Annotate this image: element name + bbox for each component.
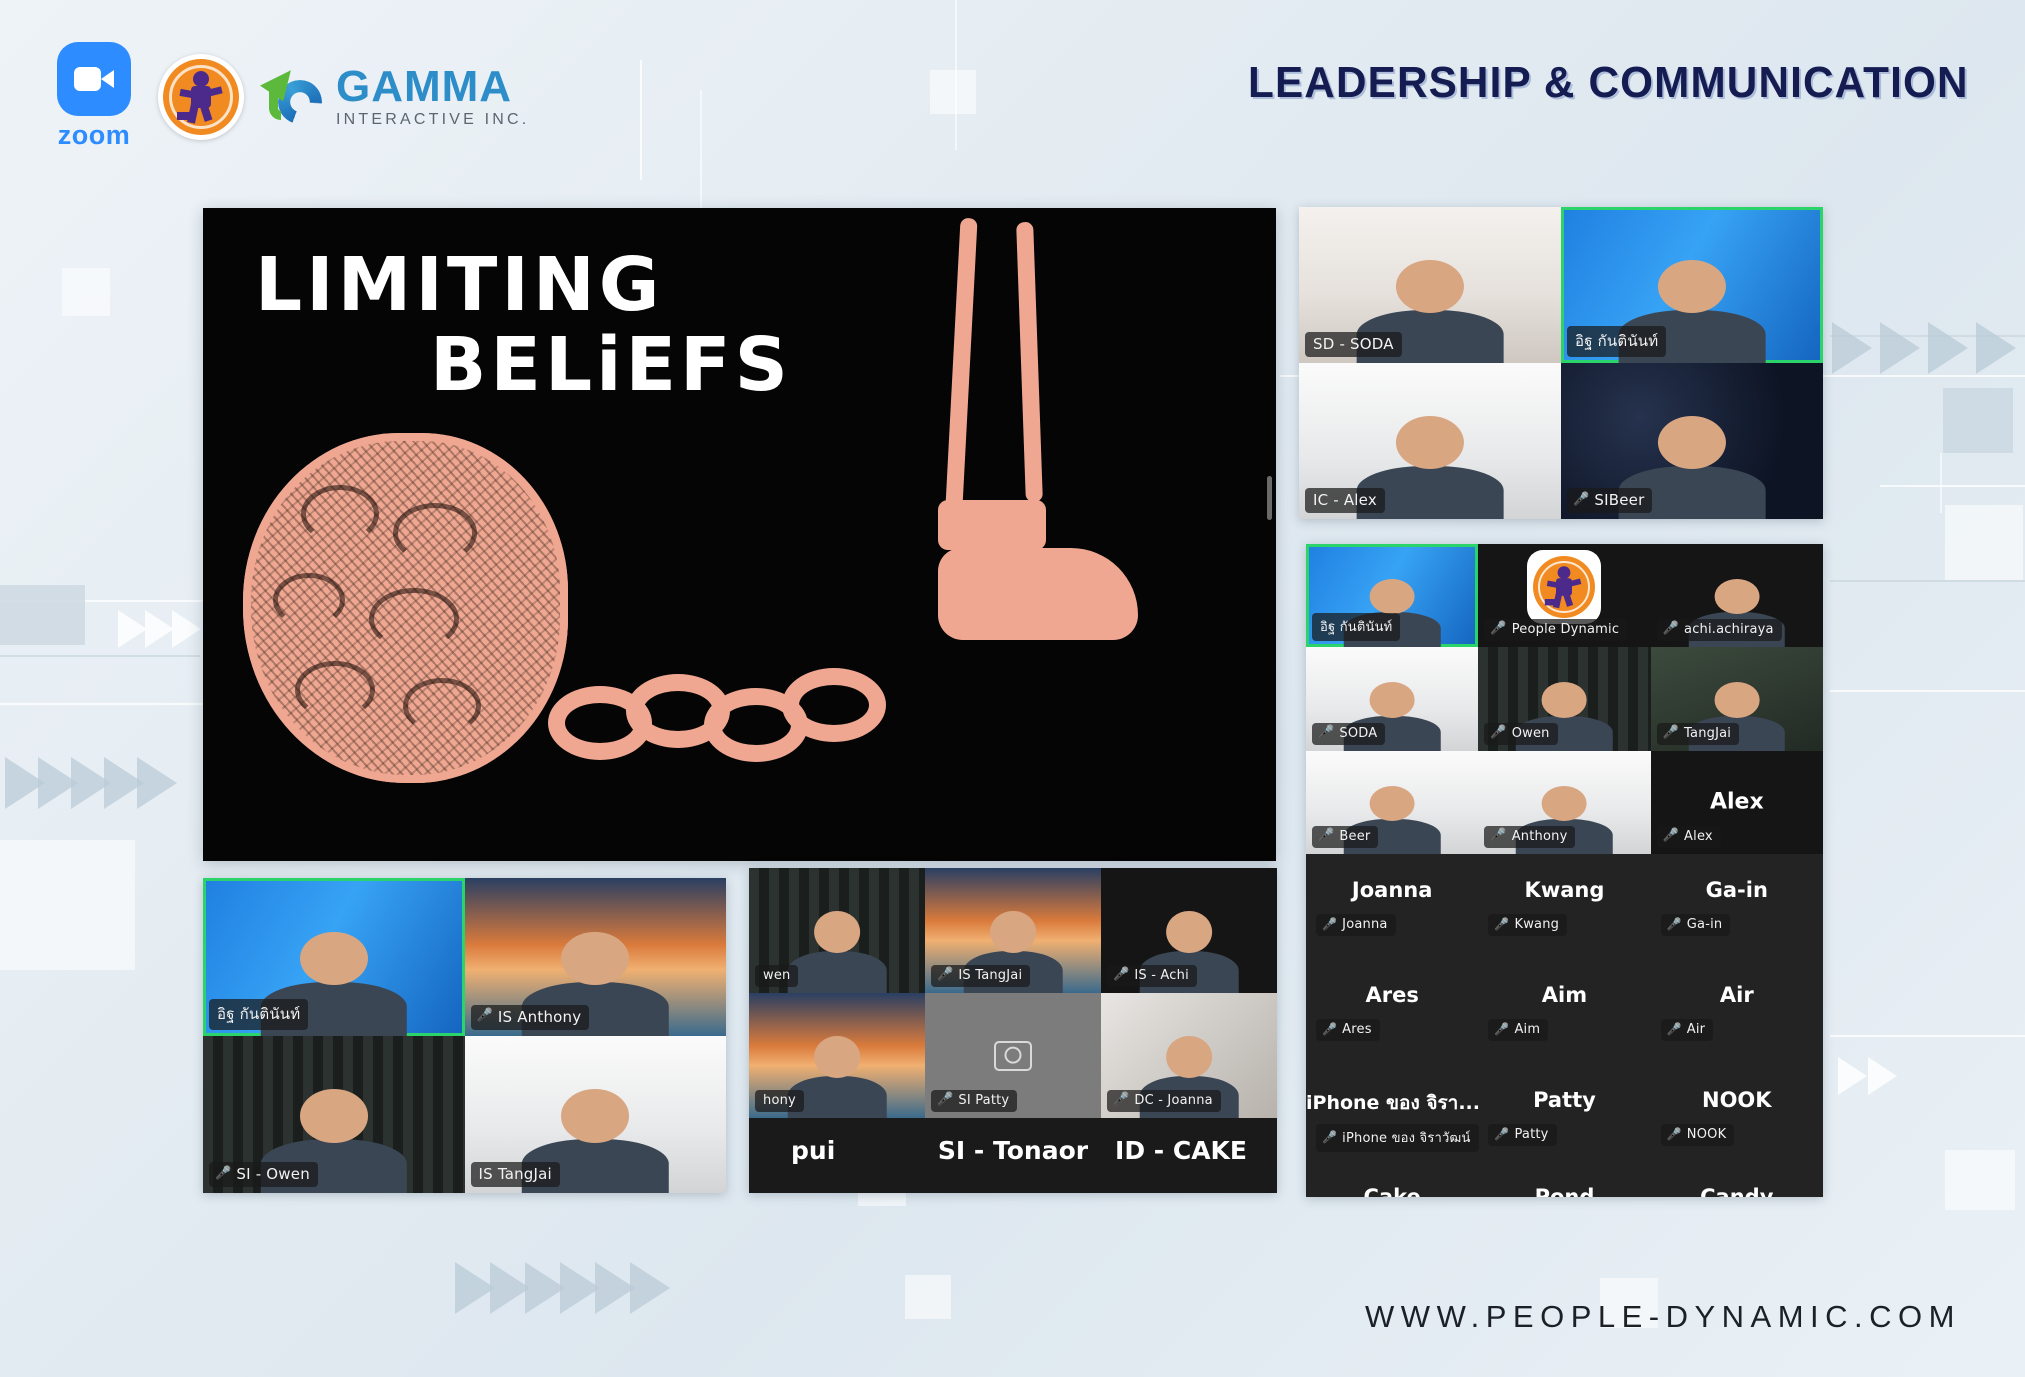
participant-name-label: SODA: [1339, 726, 1377, 741]
video-tile[interactable]: 🎤SIBeer: [1561, 363, 1823, 519]
video-tile[interactable]: อิฐ กันตินันท์: [1561, 207, 1823, 363]
participant-name-tag: 🎤Aim: [1488, 1019, 1548, 1041]
video-tile[interactable]: 🎤SODA: [1306, 647, 1478, 750]
shared-screen-slide[interactable]: LIMITING BELiEFS: [203, 208, 1276, 861]
participant-name-tag: 🎤Joanna: [1316, 914, 1396, 936]
page-title: LEADERSHIP & COMMUNICATION: [1248, 58, 1969, 108]
participant-name-label: SI - Owen: [236, 1165, 310, 1183]
microphone-muted-icon: 🎤: [477, 1009, 493, 1022]
video-tile[interactable]: IS TangJai: [465, 1036, 727, 1194]
participant-name-label: Kwang: [1514, 917, 1559, 932]
chain-icon: [548, 674, 908, 766]
participant-name-cell[interactable]: Aim🎤Aim: [1478, 977, 1650, 1082]
participant-name-label: IS Anthony: [498, 1008, 581, 1026]
participant-name-tag: 🎤IS Anthony: [471, 1005, 590, 1030]
ankle-cuff-shape: [938, 500, 1046, 550]
people-dynamic-logo-icon: [1527, 550, 1601, 624]
participant-name-label: People Dynamic: [1512, 622, 1619, 637]
participant-display-name: Kwang: [1478, 878, 1650, 902]
microphone-muted-icon: 🎤: [1490, 622, 1506, 635]
microphone-muted-icon: 🎤: [1667, 918, 1682, 930]
participant-display-name: Air: [1651, 983, 1823, 1007]
participant-name-row: SI - Tonaor: [938, 1136, 1088, 1165]
video-tile[interactable]: IC - Alex: [1299, 363, 1561, 519]
participant-display-name: iPhone ของ จิรา...: [1306, 1088, 1478, 1118]
microphone-muted-icon: 🎤: [1318, 726, 1334, 739]
participant-name-label: iPhone ของ จิราวัฒน์: [1342, 1127, 1470, 1148]
participant-name-tag: 🎤DC - Joanna: [1107, 1090, 1221, 1112]
microphone-muted-icon: 🎤: [1490, 726, 1506, 739]
microphone-muted-icon: 🎤: [1667, 1023, 1682, 1035]
participant-name-label: TangJai: [1684, 726, 1731, 741]
zoom-video-camera-icon: [57, 42, 131, 116]
participant-name-label: SD - SODA: [1313, 335, 1394, 353]
participant-name-label: NOOK: [1687, 1127, 1727, 1142]
video-tile[interactable]: 🎤DC - Joanna: [1101, 993, 1277, 1118]
video-tile[interactable]: 🎤IS TangJai: [925, 868, 1101, 993]
microphone-muted-icon: 🎤: [1318, 829, 1334, 842]
video-tile[interactable]: 🎤People Dynamic: [1478, 544, 1650, 647]
foot-shape: [938, 548, 1138, 640]
participant-name-row: pui: [791, 1136, 835, 1165]
participant-name-tag: อิฐ กันตินันท์: [1312, 613, 1400, 641]
participant-name-tag: IC - Alex: [1305, 488, 1385, 513]
video-tile[interactable]: 🎤Anthony: [1478, 751, 1650, 854]
participant-name-tag: hony: [755, 1090, 804, 1112]
participant-display-name-clipped: Cake: [1306, 1185, 1478, 1197]
video-tile[interactable]: Alex🎤Alex: [1651, 751, 1823, 854]
microphone-muted-icon: 🎤: [1494, 1023, 1509, 1035]
microphone-muted-icon: 🎤: [1494, 918, 1509, 930]
participant-name-tag: 🎤People Dynamic: [1484, 619, 1627, 641]
brain-ball-icon: [243, 433, 568, 783]
participant-name-label: hony: [763, 1093, 796, 1108]
video-tile[interactable]: อิฐ กันตินันท์: [203, 878, 465, 1036]
participant-display-name: NOOK: [1651, 1088, 1823, 1112]
microphone-muted-icon: 🎤: [1113, 968, 1129, 981]
zoom-logo: zoom: [52, 42, 136, 151]
leg-shape-2: [1016, 222, 1043, 502]
participant-name-tag: 🎤IS - Achi: [1107, 965, 1197, 987]
participant-name-tag: IS TangJai: [471, 1162, 560, 1187]
microphone-muted-icon: 🎤: [1322, 1131, 1337, 1143]
leg-shape: [945, 218, 977, 508]
participant-display-name: Ga-in: [1651, 878, 1823, 902]
participant-name-cell[interactable]: iPhone ของ จิรา...🎤iPhone ของ จิราวัฒน์: [1306, 1082, 1478, 1187]
participant-name-label: Joanna: [1342, 917, 1387, 932]
video-tile[interactable]: 🎤IS Anthony: [465, 878, 727, 1036]
people-dynamic-logo-icon: [158, 54, 244, 140]
gamma-wordmark: GAMMA: [336, 65, 529, 109]
participant-name-cell[interactable]: Kwang🎤Kwang: [1478, 872, 1650, 977]
participant-name-label: อิฐ กันตินันท์: [1575, 329, 1658, 353]
participant-name-tag: SD - SODA: [1305, 332, 1402, 357]
participant-display-name: Joanna: [1306, 878, 1478, 902]
participant-name-label: Beer: [1339, 829, 1370, 844]
participant-name-label: IS TangJai: [958, 968, 1022, 983]
microphone-muted-icon: 🎤: [1663, 622, 1679, 635]
participant-name-tag: อิฐ กันตินันท์: [1567, 326, 1666, 357]
video-tile[interactable]: 🎤achi.achiraya: [1651, 544, 1823, 647]
participant-name-label: SI Patty: [958, 1093, 1009, 1108]
microphone-muted-icon: 🎤: [1663, 829, 1679, 842]
slide-scrollbar[interactable]: [1267, 476, 1272, 520]
video-tile[interactable]: 🎤SI - Owen: [203, 1036, 465, 1194]
participant-name-cell[interactable]: Ga-in🎤Ga-in: [1651, 872, 1823, 977]
participant-name-row: ID - CAKE: [1115, 1136, 1247, 1165]
participant-name-label: SIBeer: [1594, 491, 1644, 509]
participant-name-cell[interactable]: Ares🎤Ares: [1306, 977, 1478, 1082]
participant-name-tag: 🎤IS TangJai: [931, 965, 1030, 987]
participant-name-tag: 🎤Air: [1661, 1019, 1714, 1041]
microphone-muted-icon: 🎤: [1667, 1128, 1682, 1140]
video-tile[interactable]: 🎤SI Patty: [925, 993, 1101, 1118]
participant-name-cell[interactable]: Joanna🎤Joanna: [1306, 872, 1478, 977]
slide-title-line1: LIMITING: [255, 250, 792, 320]
video-panel-top-right[interactable]: SD - SODAอิฐ กันตินันท์IC - Alex🎤SIBeer: [1299, 207, 1823, 519]
participant-name-tag: 🎤Beer: [1312, 826, 1378, 848]
participant-name-label: IS - Achi: [1134, 968, 1189, 983]
participant-name-label: อิฐ กันตินันท์: [217, 1002, 300, 1026]
zoom-wordmark: zoom: [58, 120, 131, 151]
participant-name-label: achi.achiraya: [1684, 622, 1774, 637]
participant-name-label: IS TangJai: [479, 1165, 552, 1183]
limiting-beliefs-illustration: LIMITING BELiEFS: [203, 208, 1276, 861]
microphone-muted-icon: 🎤: [1490, 829, 1506, 842]
microphone-muted-icon: 🎤: [1494, 1128, 1509, 1140]
microphone-muted-icon: 🎤: [1663, 726, 1679, 739]
participant-name-label: IC - Alex: [1313, 491, 1377, 509]
participant-name-tag: 🎤iPhone ของ จิราวัฒน์: [1316, 1124, 1479, 1152]
participant-name-tag: 🎤SODA: [1312, 723, 1385, 745]
microphone-muted-icon: 🎤: [1573, 493, 1589, 506]
participant-name-label: Ares: [1342, 1022, 1372, 1037]
participant-name-tag: 🎤Anthony: [1484, 826, 1575, 848]
participant-name-tag: 🎤SI - Owen: [209, 1162, 318, 1187]
video-tile[interactable]: SD - SODA: [1299, 207, 1561, 363]
microphone-muted-icon: 🎤: [937, 968, 953, 981]
microphone-muted-icon: 🎤: [1322, 1023, 1337, 1035]
tile-big-name: Alex: [1651, 790, 1823, 815]
microphone-muted-icon: 🎤: [937, 1093, 953, 1106]
video-tile[interactable]: อิฐ กันตินันท์: [1306, 544, 1478, 647]
participant-name-tag: 🎤Patty: [1488, 1124, 1556, 1146]
gamma-swirl-arrow-icon: [266, 66, 328, 128]
video-tile[interactable]: 🎤IS - Achi: [1101, 868, 1277, 993]
participant-name-cell[interactable]: Air🎤Air: [1651, 977, 1823, 1082]
participant-name-tag: wen: [755, 965, 798, 987]
participant-name-label: Alex: [1684, 829, 1713, 844]
microphone-muted-icon: 🎤: [1113, 1093, 1129, 1106]
participant-name-label: Air: [1687, 1022, 1705, 1037]
participant-name-label: Patty: [1514, 1127, 1548, 1142]
participant-name-label: wen: [763, 968, 790, 983]
microphone-muted-icon: 🎤: [215, 1167, 231, 1180]
video-panel-bottom-left[interactable]: อิฐ กันตินันท์🎤IS Anthony🎤SI - OwenIS Ta…: [203, 878, 726, 1193]
participant-name-tag: 🎤Ares: [1316, 1019, 1380, 1041]
video-tile[interactable]: wen: [749, 868, 925, 993]
gamma-interactive-logo: GAMMA INTERACTIVE INC.: [266, 65, 529, 128]
microphone-muted-icon: 🎤: [1322, 918, 1337, 930]
participants-gallery-panel[interactable]: อิฐ กันตินันท์🎤People Dynamic🎤achi.achir…: [1306, 544, 1823, 1197]
video-tile[interactable]: 🎤TangJai: [1651, 647, 1823, 750]
participant-name-tag: 🎤Alex: [1657, 826, 1721, 848]
participant-name-tag: อิฐ กันตินันท์: [209, 999, 308, 1030]
participant-name-label: Ga-in: [1687, 917, 1723, 932]
participant-name-label: Aim: [1514, 1022, 1540, 1037]
participant-display-name: Aim: [1478, 983, 1650, 1007]
participant-name-tag: 🎤Kwang: [1488, 914, 1567, 936]
participant-display-name: Ares: [1306, 983, 1478, 1007]
page-header: zoom GAMMA INTERACTIVE INC.: [0, 0, 2025, 180]
participant-display-name-clipped: Pond: [1478, 1185, 1650, 1197]
camera-off-icon: [994, 1041, 1032, 1071]
participant-name-tag: 🎤SIBeer: [1567, 488, 1652, 513]
participant-name-label: DC - Joanna: [1134, 1093, 1212, 1108]
footer-website-url: WWW.PEOPLE-DYNAMIC.COM: [1365, 1299, 1961, 1335]
participant-name-cell[interactable]: Patty🎤Patty: [1478, 1082, 1650, 1187]
participant-display-name-clipped: Candy: [1651, 1185, 1823, 1197]
participant-name-label: อิฐ กันตินันท์: [1320, 616, 1392, 637]
participant-name-tag: 🎤achi.achiraya: [1657, 619, 1782, 641]
video-tile[interactable]: hony: [749, 993, 925, 1118]
brand-logos: zoom GAMMA INTERACTIVE INC.: [52, 42, 529, 151]
gamma-tagline: INTERACTIVE INC.: [336, 112, 529, 128]
participant-name-label: Anthony: [1512, 829, 1568, 844]
participant-name-tag: 🎤SI Patty: [931, 1090, 1017, 1112]
slide-title-line2: BELiEFS: [430, 330, 792, 400]
video-tile[interactable]: 🎤Owen: [1478, 647, 1650, 750]
participant-name-label: Owen: [1512, 726, 1550, 741]
participant-name-cell[interactable]: NOOK🎤NOOK: [1651, 1082, 1823, 1187]
participant-name-tag: 🎤Ga-in: [1661, 914, 1731, 936]
participant-display-name: Patty: [1478, 1088, 1650, 1112]
participant-name-tag: 🎤Owen: [1484, 723, 1557, 745]
participant-name-tag: 🎤NOOK: [1661, 1124, 1735, 1146]
video-panel-bottom-middle[interactable]: wen🎤IS TangJai🎤IS - Achihony🎤SI Patty🎤DC…: [749, 868, 1277, 1193]
participant-name-tag: 🎤TangJai: [1657, 723, 1739, 745]
video-tile[interactable]: 🎤Beer: [1306, 751, 1478, 854]
